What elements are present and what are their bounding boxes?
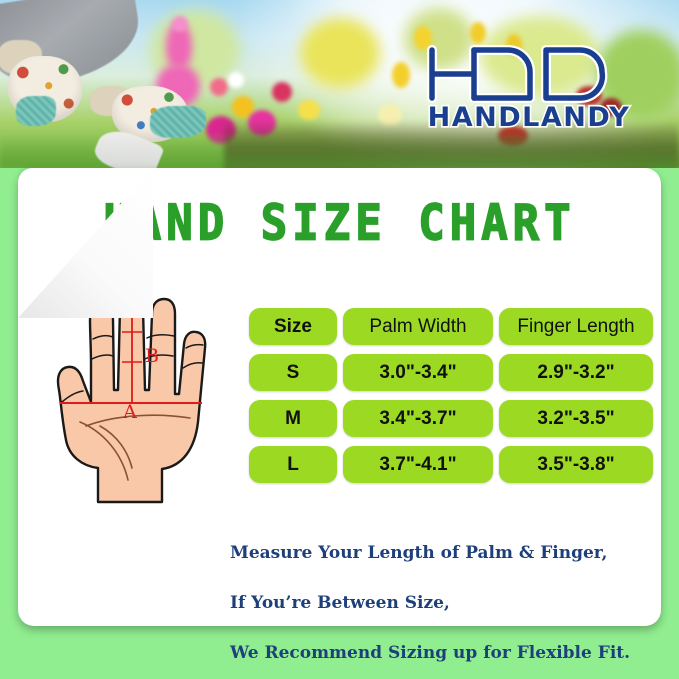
cell-finger-length: 3.5"-3.8"	[499, 446, 653, 483]
glove-teal-patch	[16, 96, 56, 126]
flower-blob	[298, 100, 320, 120]
flower-blob	[228, 72, 244, 88]
cell-palm-width: 3.4"-3.7"	[343, 400, 493, 437]
sizing-note-line-1: Measure Your Length of Palm & Finger,	[230, 541, 630, 566]
header-photo-banner: HANDLANDY	[0, 0, 679, 168]
cell-finger-length: 2.9"-3.2"	[499, 354, 653, 391]
handlandy-logo: HANDLANDY	[422, 42, 637, 132]
table-header-row: Size Palm Width Finger Length	[249, 308, 653, 345]
table-row: M 3.4"-3.7" 3.2"-3.5"	[249, 400, 653, 437]
logo-wordmark: HANDLANDY	[428, 102, 631, 132]
cell-size: L	[249, 446, 337, 483]
column-header-palm-width: Palm Width	[343, 308, 493, 345]
table-row: S 3.0"-3.4" 2.9"-3.2"	[249, 354, 653, 391]
cell-palm-width: 3.0"-3.4"	[343, 354, 493, 391]
cell-size: M	[249, 400, 337, 437]
cell-size: S	[249, 354, 337, 391]
palm-width-marker-label: A	[122, 401, 137, 423]
daffodil-flower	[392, 62, 410, 88]
daffodil-flower	[470, 22, 486, 44]
glove-teal-patch	[150, 106, 206, 138]
cell-finger-length: 3.2"-3.5"	[499, 400, 653, 437]
table-row: L 3.7"-4.1" 3.5"-3.8"	[249, 446, 653, 483]
hand-measurement-diagram: A B	[42, 290, 227, 510]
sizing-note: Measure Your Length of Palm & Finger, If…	[230, 516, 630, 679]
finger-length-marker-label: B	[145, 345, 159, 367]
hand-size-chart-page: HANDLANDY HAND SIZE CHART	[0, 0, 679, 679]
size-table: Size Palm Width Finger Length S 3.0"-3.4…	[249, 308, 653, 492]
hyacinth-flower	[172, 16, 188, 32]
column-header-size: Size	[249, 308, 337, 345]
foliage-blob	[300, 18, 380, 88]
sizing-note-line-2: If You’re Between Size,	[230, 591, 630, 616]
sizing-note-line-3: We Recommend Sizing up for Flexible Fit.	[230, 641, 630, 666]
column-header-finger-length: Finger Length	[499, 308, 653, 345]
flower-blob	[210, 78, 228, 96]
flower-blob	[272, 82, 292, 102]
cell-palm-width: 3.7"-4.1"	[343, 446, 493, 483]
